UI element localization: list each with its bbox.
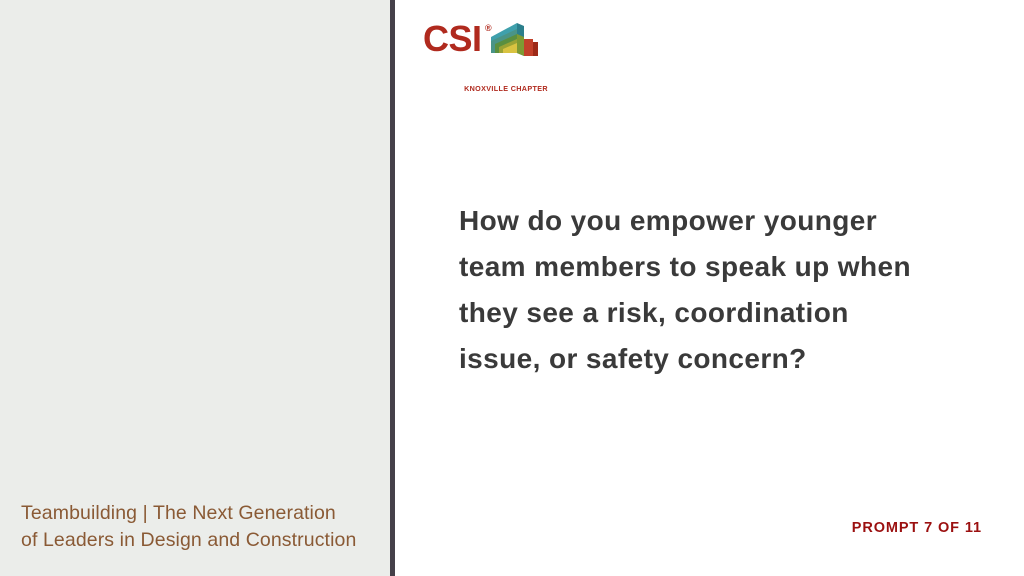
question-line-2: team members to speak up when — [459, 244, 999, 290]
chapter-name: KNOXVILLE CHAPTER — [451, 84, 561, 93]
question-text: How do you empower younger team members … — [459, 198, 999, 382]
caption-line-2: of Leaders in Design and Construction — [21, 527, 373, 554]
logo-mark: CSI ® — [423, 22, 541, 60]
question-line-1: How do you empower younger — [459, 198, 999, 244]
slide-root: Teambuilding | The Next Generation of Le… — [0, 0, 1024, 576]
question-line-4: issue, or safety concern? — [459, 336, 999, 382]
left-panel: Teambuilding | The Next Generation of Le… — [0, 0, 390, 576]
slide-caption: Teambuilding | The Next Generation of Le… — [21, 500, 373, 554]
csi-knoxville-logo: CSI ® KNOXVILLE CHAPTER — [423, 22, 543, 72]
question-line-3: they see a risk, coordination — [459, 290, 999, 336]
caption-line-1: Teambuilding | The Next Generation — [21, 500, 373, 527]
csi-wordmark: CSI — [423, 20, 482, 58]
prompt-counter: PROMPT 7 OF 11 — [852, 520, 982, 536]
building-graphic-icon — [491, 23, 538, 59]
right-panel: CSI ® KNOXVILLE CHAPTER How do you empow — [395, 0, 1024, 576]
